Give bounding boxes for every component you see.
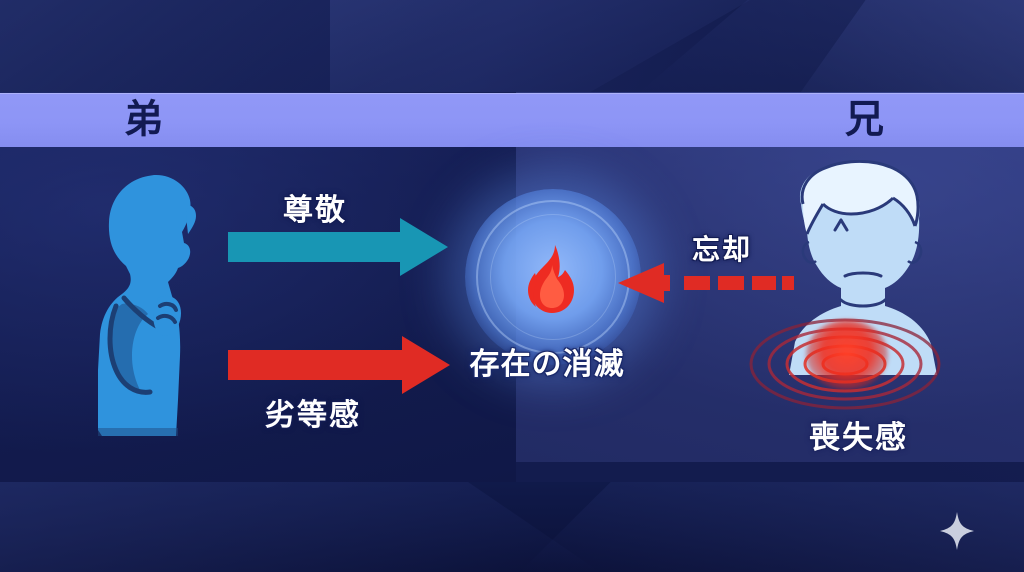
diagram-canvas: 弟 兄 存在の消滅 尊敬 劣等感 忘却 <box>0 0 1024 572</box>
header-label-younger-brother: 弟 <box>124 101 163 140</box>
center-caption-text: 存在の消滅 <box>470 339 625 383</box>
arrow-label-oblivion: 忘却 <box>692 228 752 268</box>
background-facet-top-mid <box>330 0 750 92</box>
center-caption: 存在の消滅 <box>0 339 1024 383</box>
boy-silhouette-icon <box>96 170 224 442</box>
background-facet-bottom-left <box>0 482 600 572</box>
panel-younger-brother <box>0 92 516 482</box>
arrow-label-respect: 尊敬 <box>283 185 347 229</box>
background-facet-top-right <box>640 0 1024 92</box>
background-facet-top <box>0 0 1024 92</box>
background-facet-bottom <box>0 482 1024 572</box>
label-loss: 喪失感 <box>809 412 908 457</box>
header-label-older-brother: 兄 <box>845 101 884 140</box>
flame-icon <box>522 243 582 315</box>
sparkle-icon <box>940 512 974 550</box>
arrow-label-inferiority: 劣等感 <box>265 390 361 434</box>
arrow-oblivion <box>618 263 794 303</box>
header-band: 弟 兄 <box>0 93 1024 147</box>
